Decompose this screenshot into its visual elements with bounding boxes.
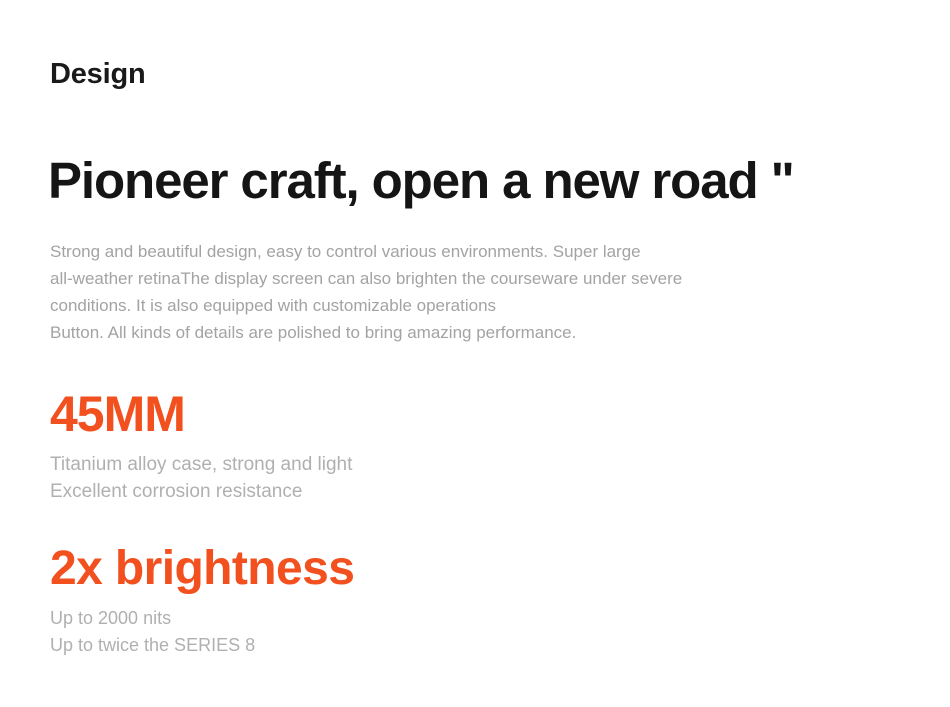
design-slide: Design Pioneer craft, open a new road " … <box>0 0 950 707</box>
stat-block-case-size: 45MM Titanium alloy case, strong and lig… <box>50 388 352 505</box>
stat-description-line: Titanium alloy case, strong and light <box>50 451 352 478</box>
body-paragraph: Strong and beautiful design, easy to con… <box>50 238 830 346</box>
body-line: conditions. It is also equipped with cus… <box>50 292 830 319</box>
stat-description-line: Up to 2000 nits <box>50 605 354 632</box>
stat-value: 45MM <box>50 388 352 440</box>
headline-quote-mark: " <box>771 152 795 209</box>
headline-text: Pioneer craft, open a new road <box>48 152 758 209</box>
stat-description: Titanium alloy case, strong and light Ex… <box>50 451 352 505</box>
page-title: Pioneer craft, open a new road " <box>48 152 795 210</box>
stat-description-line: Up to twice the SERIES 8 <box>50 632 354 659</box>
stat-block-brightness: 2x brightness Up to 2000 nits Up to twic… <box>50 543 354 659</box>
section-eyebrow-label: Design <box>50 57 146 91</box>
stat-description: Up to 2000 nits Up to twice the SERIES 8 <box>50 605 354 659</box>
stat-value: 2x brightness <box>50 543 354 595</box>
body-line: Strong and beautiful design, easy to con… <box>50 238 830 265</box>
body-line: all-weather retinaThe display screen can… <box>50 265 830 292</box>
stat-description-line: Excellent corrosion resistance <box>50 478 352 505</box>
body-line: Button. All kinds of details are polishe… <box>50 319 830 346</box>
